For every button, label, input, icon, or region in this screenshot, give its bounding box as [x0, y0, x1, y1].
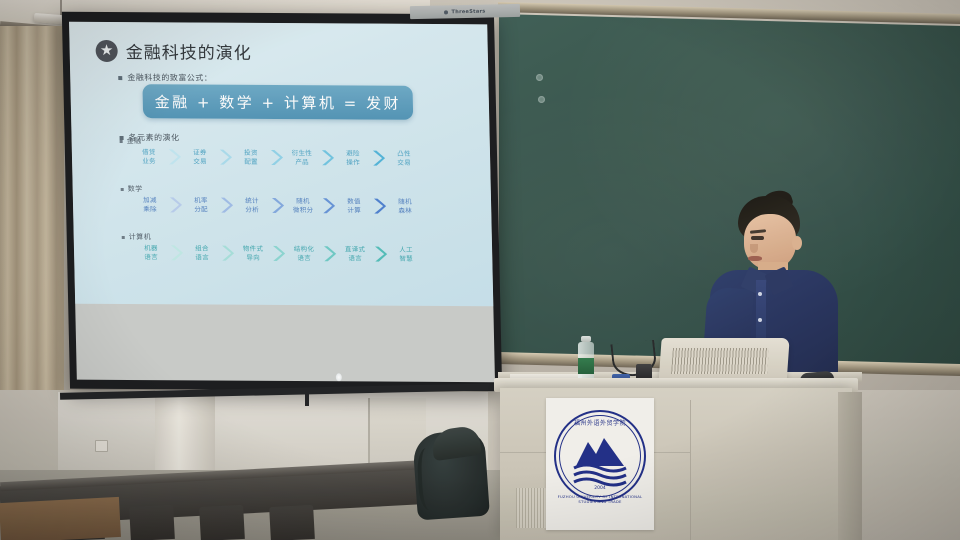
chain-node-line: 借贷	[132, 148, 166, 157]
window-curtain	[0, 26, 64, 421]
chevron-right-icon	[371, 150, 386, 167]
row-label-text: 数学	[128, 184, 143, 194]
chain-node: 证券交易	[183, 148, 217, 166]
chevron-right-icon	[321, 198, 336, 215]
chevron-right-icon	[322, 245, 337, 262]
chain-node-line: 证券	[183, 148, 217, 157]
chain-node-line: 组合	[185, 244, 219, 253]
chevron-right-icon	[167, 149, 182, 166]
backpack-strap	[416, 447, 443, 510]
laser-pointer-dot	[336, 373, 342, 381]
chain-node: 加减乘除	[133, 196, 167, 214]
chain-node-line: 结构化	[287, 245, 321, 254]
chevron-right-icon	[271, 245, 286, 262]
chain-node: 随机森林	[388, 198, 422, 216]
chain-node: 凸性交易	[387, 150, 421, 168]
chain-node-line: 微积分	[286, 206, 320, 215]
chain-node: 投资配置	[234, 149, 268, 167]
bullet-square-icon	[120, 140, 123, 143]
power-outlet	[95, 440, 108, 452]
chain-node-line: 导向	[236, 253, 270, 262]
chain-node-line: 业务	[132, 157, 166, 166]
chain-node: 数值计算	[337, 197, 371, 215]
ear	[792, 236, 802, 250]
chevron-right-icon	[219, 197, 234, 214]
logo-chinese-name: 福州外语外贸学院	[560, 418, 640, 427]
chain-node-line: 衍生性	[285, 149, 319, 158]
slide-title: 金融科技的演化	[125, 38, 252, 64]
podium-side-panel	[838, 392, 862, 540]
shirt-button	[758, 318, 762, 322]
chevron-right-icon	[220, 245, 235, 262]
lecture-hall-photo: ★ 金融科技的演化 金融科技的致富公式： 金融 + 数学 + 计算机 = 发财 …	[0, 0, 960, 540]
chain-node-line: 交易	[183, 157, 217, 166]
podium-seam	[690, 400, 691, 540]
chain-node-line: 语言	[185, 253, 219, 262]
chain-node: 随机微积分	[286, 197, 320, 215]
bullet-square-icon	[118, 76, 122, 80]
monitor-vent	[671, 348, 769, 374]
shirt-button	[758, 292, 762, 296]
chain-node-line: 随机	[286, 197, 320, 206]
mouth	[748, 256, 762, 261]
chevron-right-icon	[373, 246, 388, 263]
bench-seat	[199, 505, 245, 540]
screen-brand-label: ThreeStars	[451, 8, 485, 15]
chain-node: 人工智慧	[389, 246, 423, 264]
bullet-square-icon	[122, 236, 125, 239]
brand-dot-icon	[444, 10, 448, 14]
chain-node-line: 分配	[184, 205, 218, 214]
chain-node-line: 数值	[337, 197, 371, 206]
bottle-label	[578, 358, 594, 374]
chevron-right-icon	[168, 197, 183, 214]
chain-node-line: 乘除	[133, 205, 167, 214]
bench-seat	[129, 505, 175, 540]
chain-node-line: 机器	[134, 244, 168, 253]
projection-screen-frame: ★ 金融科技的演化 金融科技的致富公式： 金融 + 数学 + 计算机 = 发财 …	[62, 12, 502, 392]
row-label-math: 数学	[121, 184, 143, 194]
chain-node-line: 人工	[389, 246, 423, 255]
wooden-desk-edge	[0, 497, 121, 540]
chalkboard-magnet	[536, 74, 543, 81]
row-label-text: 计算机	[129, 232, 152, 242]
chevron-right-icon	[269, 149, 284, 166]
chain-node-line: 机率	[184, 196, 218, 205]
bench-seat	[269, 505, 315, 540]
projection-screen-surface: ★ 金融科技的演化 金融科技的致富公式： 金融 + 数学 + 计算机 = 发财 …	[69, 22, 495, 382]
chain-node-line: 计算	[337, 206, 371, 215]
screen-brand-plate: ThreeStars	[410, 4, 520, 19]
bullet-square-icon	[121, 188, 124, 191]
projection-screen-foot	[305, 392, 309, 406]
chain-node: 机器语言	[134, 244, 168, 262]
chain-node-line: 语言	[287, 254, 321, 263]
chevron-right-icon	[218, 149, 233, 166]
chain-node-line: 智慧	[389, 254, 423, 263]
formula-banner: 金融 + 数学 + 计算机 = 发财	[142, 84, 413, 120]
chain-node-line: 语言	[134, 253, 168, 262]
slide-bullet-formula-label: 金融科技的致富公式：	[118, 72, 212, 84]
chain-row-finance: 借贷业务证券交易投资配置衍生性产品避险操作凸性交易	[132, 148, 421, 167]
chain-node-line: 凸性	[387, 150, 421, 159]
slide-title-row: ★ 金融科技的演化	[95, 38, 252, 64]
logo-year: 2004	[560, 486, 640, 491]
star-icon: ★	[95, 39, 117, 61]
row-label-text: 金融	[127, 136, 142, 146]
chain-row-math: 加减乘除机率分配统计分析随机微积分数值计算随机森林	[133, 196, 422, 215]
chain-node-line: 森林	[388, 206, 422, 215]
chevron-right-icon	[320, 150, 335, 167]
chain-node-line: 统计	[235, 197, 269, 206]
eye	[751, 236, 764, 240]
chain-node-line: 直译式	[338, 245, 372, 254]
formula-text: 金融 + 数学 + 计算机 = 发财	[154, 91, 401, 114]
chain-node: 直译式语言	[338, 245, 372, 263]
chain-node-line: 加减	[133, 196, 167, 205]
chain-node: 物件式导向	[236, 245, 270, 263]
chevron-right-icon	[372, 198, 387, 215]
chain-node-line: 配置	[234, 157, 268, 166]
nose	[750, 244, 758, 253]
university-logo-sheet: 福州外语外贸学院 2004 FUZHOU UNIVERSITY OF INTER…	[546, 398, 654, 530]
chain-node-line: 交易	[387, 158, 421, 167]
chain-node-line: 分析	[235, 205, 269, 214]
chain-node: 借贷业务	[132, 148, 166, 166]
chain-node-line: 投资	[234, 149, 268, 158]
chain-node-line: 操作	[336, 158, 370, 167]
chain-node-line: 物件式	[236, 245, 270, 254]
chain-node: 机率分配	[184, 196, 218, 214]
bottle-cap	[581, 336, 591, 342]
chain-node: 衍生性产品	[285, 149, 319, 167]
chain-node: 组合语言	[185, 244, 219, 262]
chain-node: 统计分析	[235, 197, 269, 215]
chain-node-line: 产品	[285, 158, 319, 167]
chevron-right-icon	[270, 197, 285, 214]
chain-row-computer: 机器语言组合语言物件式导向结构化语言直译式语言人工智慧	[134, 244, 423, 263]
logo-english-name: FUZHOU UNIVERSITY OF INTERNATIONAL STUDI…	[552, 494, 648, 504]
chain-node-line: 语言	[338, 254, 372, 263]
chain-node: 避险操作	[336, 149, 370, 167]
row-label-finance: 金融	[120, 136, 142, 146]
chain-node-line: 避险	[336, 149, 370, 158]
chevron-right-icon	[169, 245, 184, 262]
bullet-text: 金融科技的致富公式：	[127, 72, 212, 84]
row-label-computer: 计算机	[122, 232, 152, 242]
logo-mountain-icon	[574, 436, 626, 466]
chain-node-line: 随机	[388, 198, 422, 207]
water-bottle	[578, 336, 594, 384]
chalkboard-magnet	[538, 96, 545, 103]
chain-node: 结构化语言	[287, 245, 321, 263]
presentation-slide: ★ 金融科技的演化 金融科技的致富公式： 金融 + 数学 + 计算机 = 发财 …	[69, 22, 493, 306]
